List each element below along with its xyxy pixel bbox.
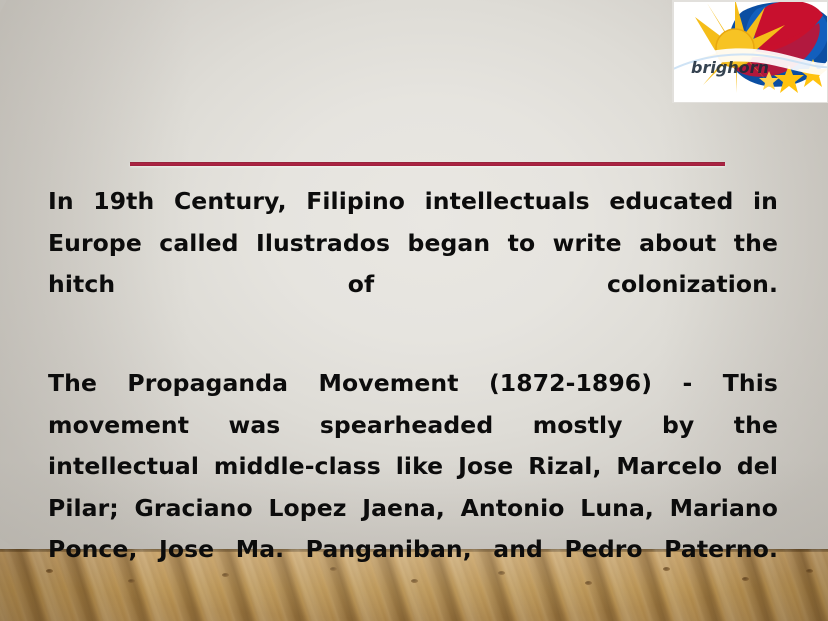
- logo-wordmark: brighorn: [691, 58, 769, 77]
- philippines-flag-sun-logo-icon: brighorn: [673, 1, 828, 103]
- paragraph-propaganda-movement: The Propaganda Movement (1872-1896) - Th…: [48, 363, 778, 612]
- logo-container: brighorn: [672, 0, 828, 103]
- paragraph-intro: In 19th Century, Filipino intellectuals …: [48, 181, 778, 347]
- accent-divider-rule: [130, 162, 725, 166]
- slide-body-text: In 19th Century, Filipino intellectuals …: [48, 181, 778, 612]
- presentation-slide: brighorn In 19th Century, Filipino intel…: [0, 0, 828, 621]
